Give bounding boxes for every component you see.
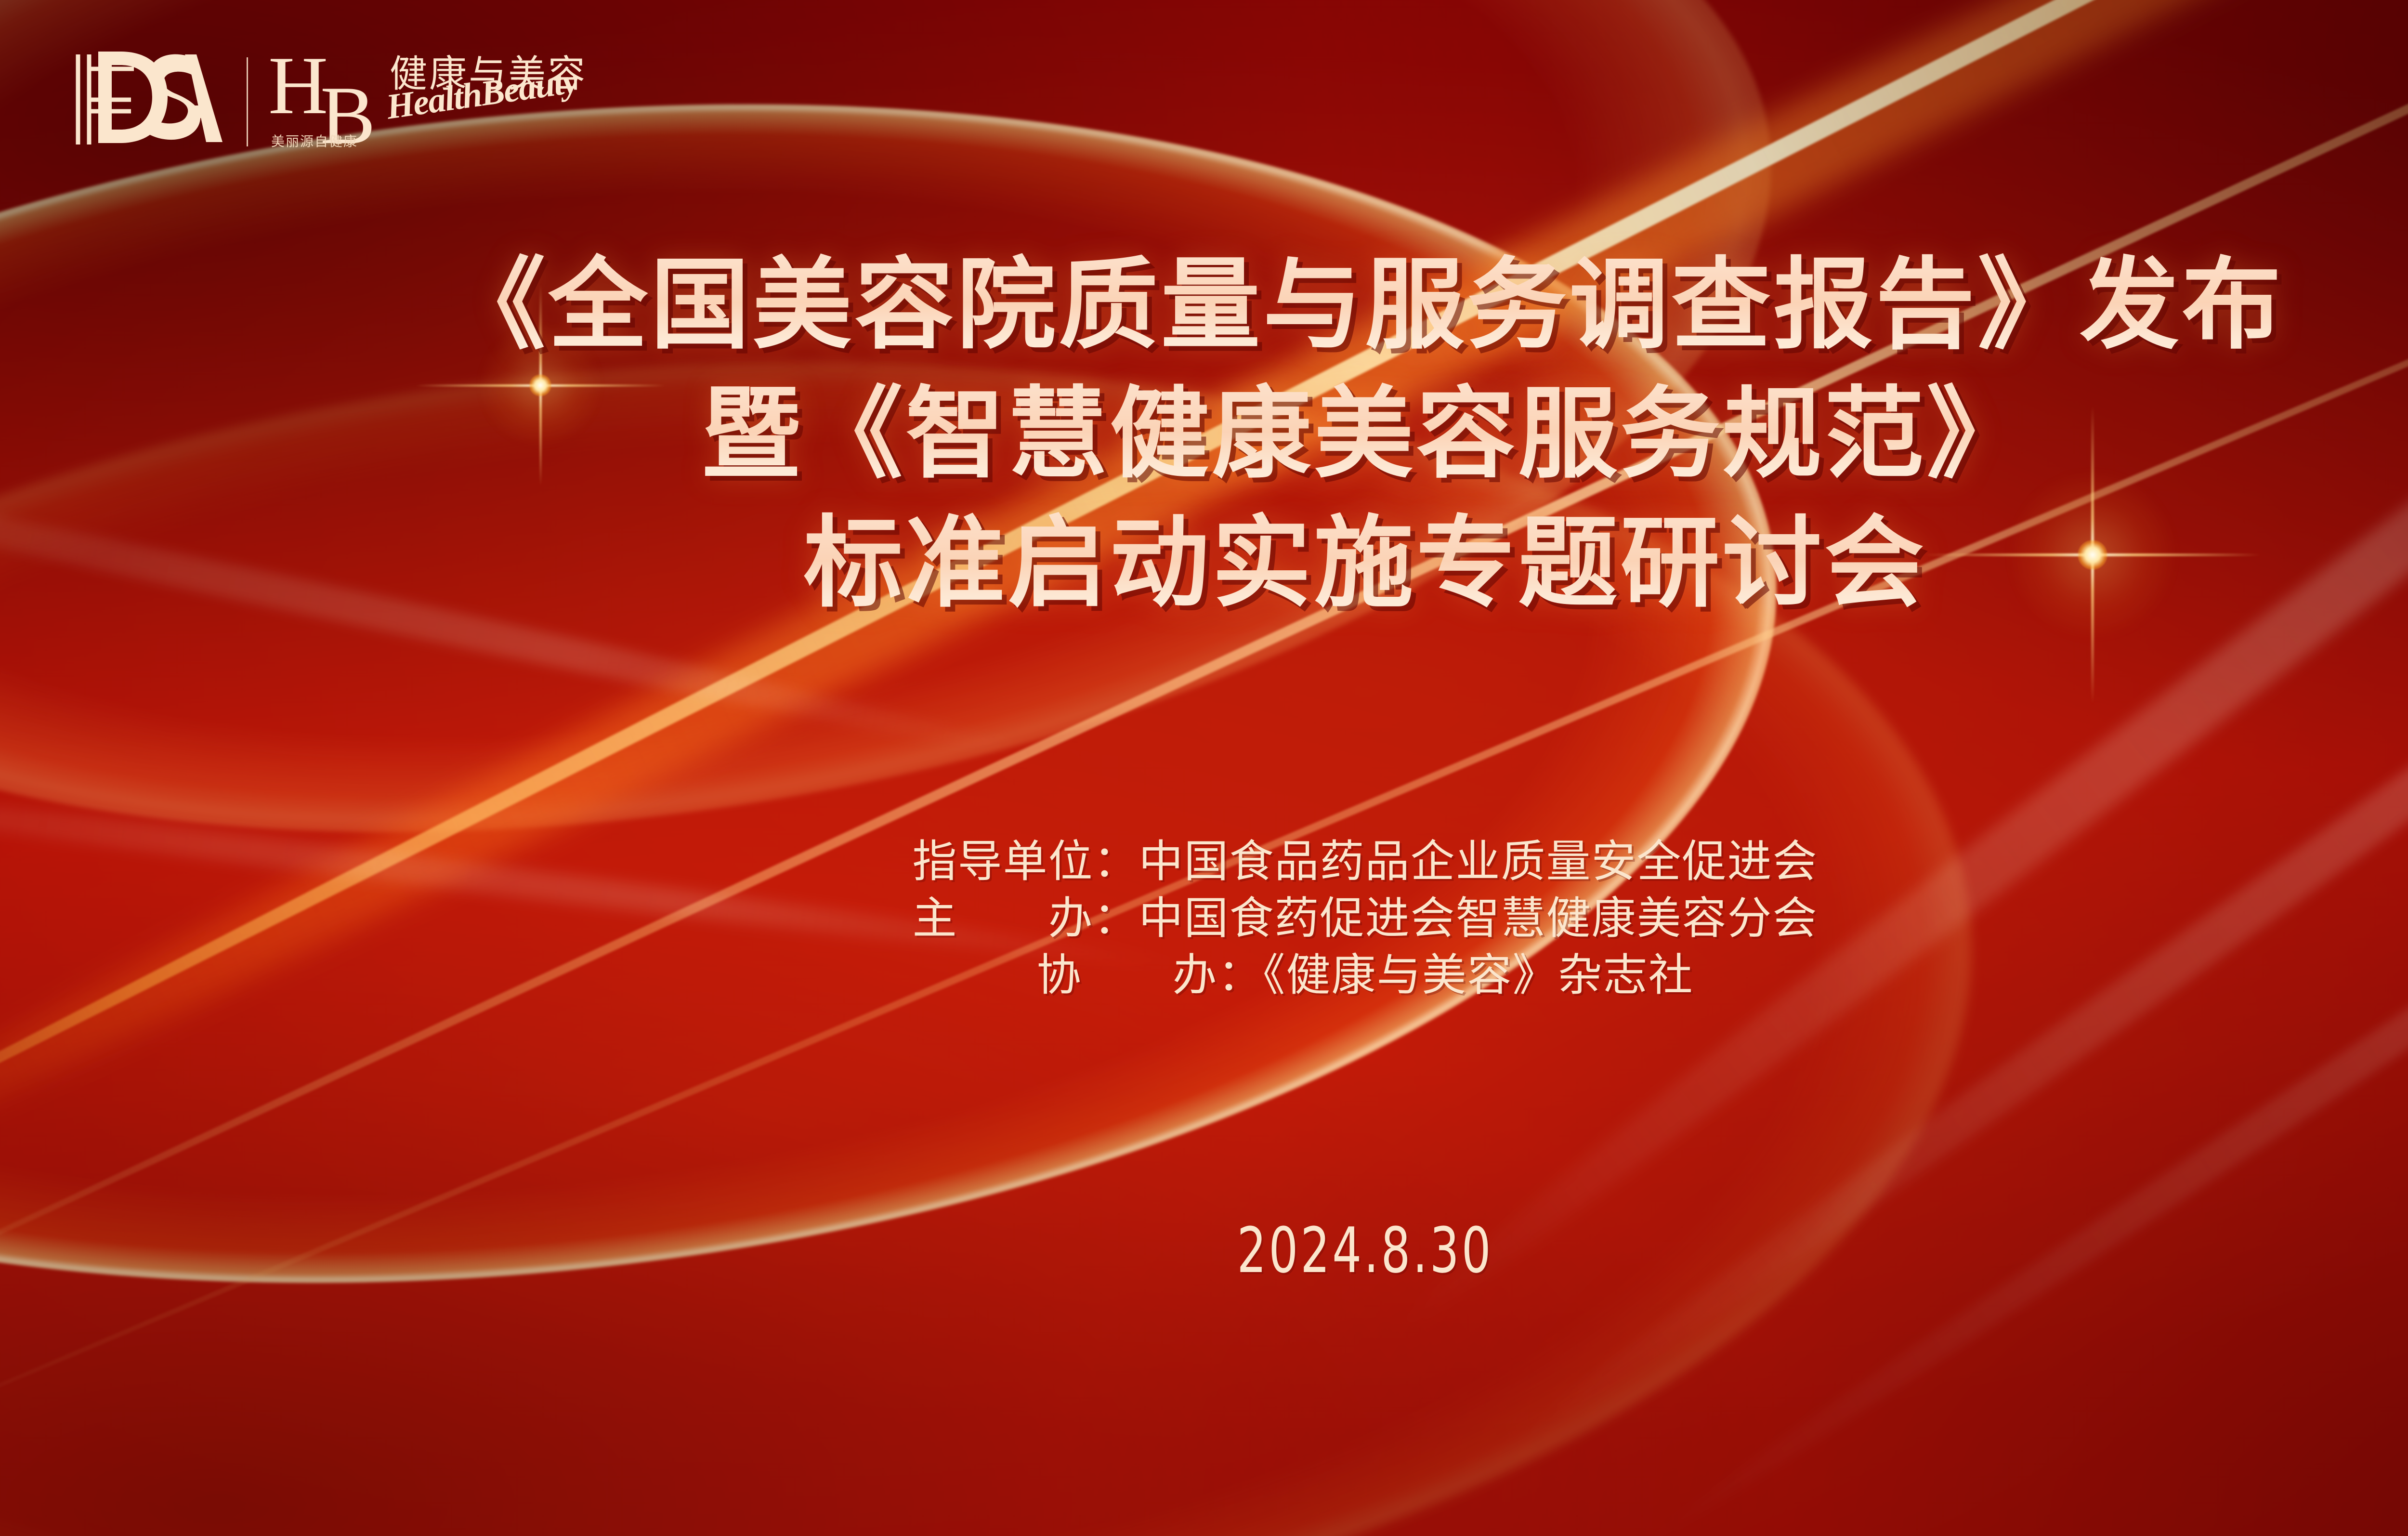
logo-lockup: H B 美丽源自健康 健康与美容 HealthBeauty bbox=[67, 46, 634, 149]
organizer-list: 指导单位：中国食品药品企业质量安全促进会 主 办：中国食药促进会智慧健康美容分会… bbox=[0, 833, 2408, 1003]
fdsa-logo-icon bbox=[67, 46, 226, 149]
light-streak-glow bbox=[0, 0, 2408, 1281]
title-line-1: 《全国美容院质量与服务调查报告》发布 bbox=[0, 241, 2408, 370]
title-line-3: 标准启动实施专题研讨会 bbox=[0, 499, 2408, 628]
light-streak-secondary bbox=[0, 0, 2408, 1349]
light-swoosh-gold bbox=[0, 0, 1835, 1399]
hb-tagline: 美丽源自健康 bbox=[271, 131, 358, 150]
logo-divider bbox=[247, 57, 248, 146]
organizer-row-guidance: 指导单位：中国食品药品企业质量安全促进会 bbox=[0, 833, 2408, 890]
hb-logo-block: H B 美丽源自健康 健康与美容 HealthBeauty bbox=[268, 46, 634, 149]
organizer-row-host: 主 办：中国食药促进会智慧健康美容分会 bbox=[0, 890, 2408, 947]
vignette-overlay bbox=[0, 0, 2408, 1536]
organizer-row-cohost: 协 办：《健康与美容》杂志社 bbox=[0, 947, 2408, 1004]
title-line-2: 暨《智慧健康美容服务规范》 bbox=[0, 370, 2408, 499]
hb-letter-h: H bbox=[268, 44, 325, 127]
background-decoration bbox=[0, 0, 2408, 1536]
poster-stage: H B 美丽源自健康 健康与美容 HealthBeauty 《全国美容院质量与服… bbox=[0, 0, 2408, 1536]
poster-title: 《全国美容院质量与服务调查报告》发布 暨《智慧健康美容服务规范》 标准启动实施专… bbox=[0, 241, 2408, 628]
event-date: 2024.8.30 bbox=[246, 1214, 2408, 1287]
